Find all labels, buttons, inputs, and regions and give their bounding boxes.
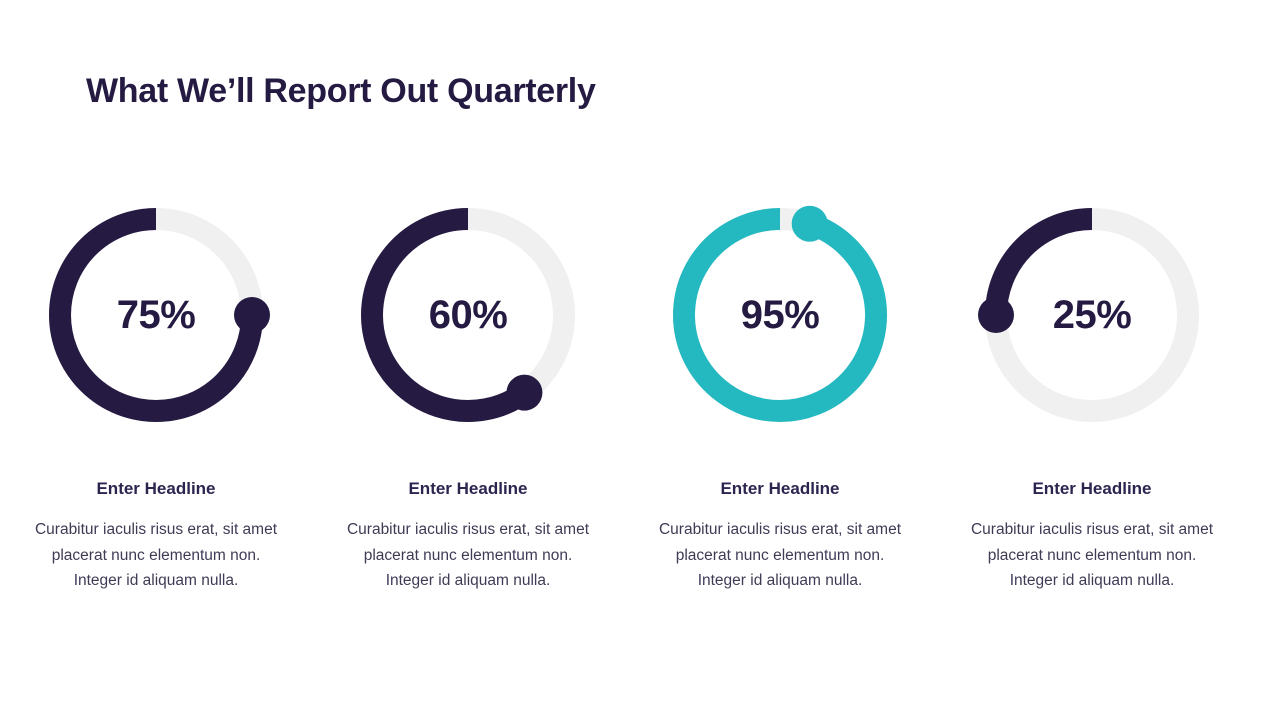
- donut-value-label-2: 60%: [429, 295, 508, 335]
- metric-column-2[interactable]: 60% Enter Headline Curabitur iaculis ris…: [312, 195, 624, 593]
- donut-value-label-1: 75%: [117, 295, 196, 335]
- metrics-row: 75% Enter Headline Curabitur iaculis ris…: [0, 195, 1280, 593]
- donut-chart-1[interactable]: 75%: [36, 195, 276, 435]
- metric-column-3[interactable]: 95% Enter Headline Curabitur iaculis ris…: [624, 195, 936, 593]
- page-title: What We’ll Report Out Quarterly: [86, 72, 596, 111]
- metric-column-1[interactable]: 75% Enter Headline Curabitur iaculis ris…: [0, 195, 312, 593]
- donut-chart-2[interactable]: 60%: [348, 195, 588, 435]
- column-headline-3: Enter Headline: [720, 479, 839, 499]
- slide-canvas: What We’ll Report Out Quarterly 75% Ente…: [0, 0, 1280, 720]
- donut-value-label-3: 95%: [741, 295, 820, 335]
- column-headline-4: Enter Headline: [1032, 479, 1151, 499]
- column-headline-2: Enter Headline: [408, 479, 527, 499]
- donut-chart-3[interactable]: 95%: [660, 195, 900, 435]
- column-body-3: Curabitur iaculis risus erat, sit amet p…: [658, 517, 903, 592]
- column-headline-1: Enter Headline: [96, 479, 215, 499]
- column-body-2: Curabitur iaculis risus erat, sit amet p…: [346, 517, 591, 592]
- donut-value-label-4: 25%: [1053, 295, 1132, 335]
- donut-chart-4[interactable]: 25%: [972, 195, 1212, 435]
- column-body-1: Curabitur iaculis risus erat, sit amet p…: [34, 517, 279, 592]
- metric-column-4[interactable]: 25% Enter Headline Curabitur iaculis ris…: [936, 195, 1248, 593]
- column-body-4: Curabitur iaculis risus erat, sit amet p…: [970, 517, 1215, 592]
